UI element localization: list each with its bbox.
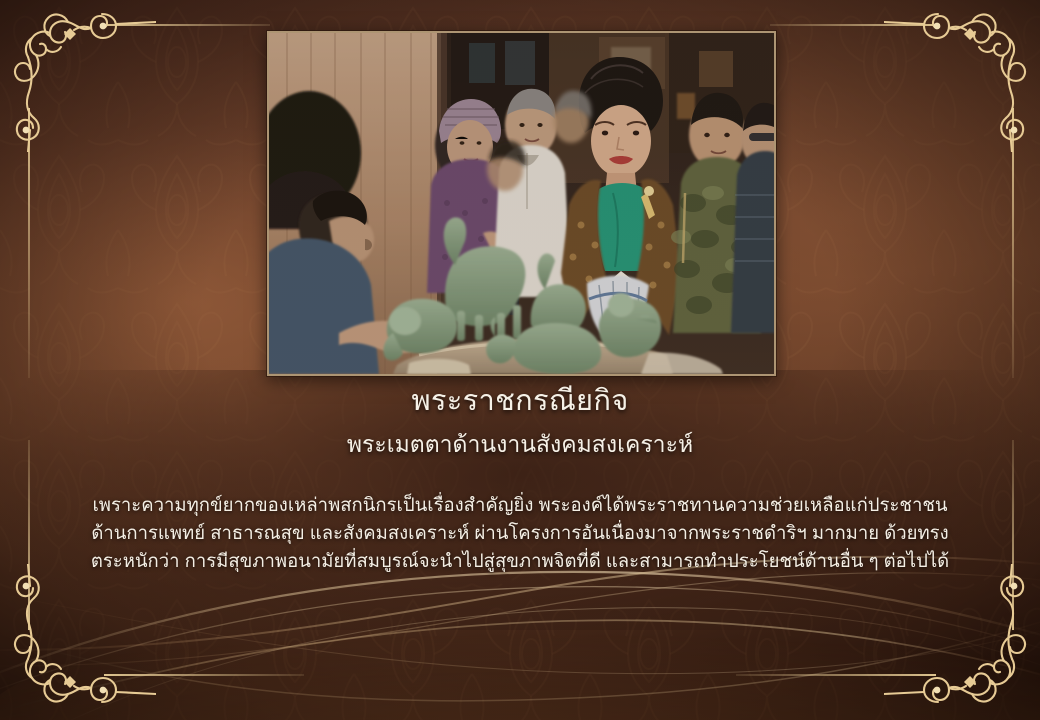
frame-line-top-left	[100, 24, 270, 26]
slide-photo	[267, 31, 776, 376]
presentation-slide: พระราชกรณียกิจ พระเมตตาด้านงานสังคมสงเคร…	[0, 0, 1040, 720]
corner-ornament-bottom-left	[6, 564, 156, 714]
body-line: ด้านการแพทย์ สาธารณสุข และสังคมสงเคราะห์…	[55, 519, 985, 547]
page-subtitle: พระเมตตาด้านงานสังคมสงเคราะห์	[0, 427, 1040, 463]
corner-ornament-top-right	[884, 2, 1034, 152]
frame-line-bottom-right	[736, 674, 936, 676]
body-text: เพราะความทุกข์ยากของเหล่าพสกนิกรเป็นเรื่…	[55, 491, 985, 574]
frame-line-top-right	[770, 24, 940, 26]
corner-ornament-top-left	[6, 2, 156, 152]
photo-content	[269, 33, 774, 374]
body-line: เพราะความทุกข์ยากของเหล่าพสกนิกรเป็นเรื่…	[55, 491, 985, 519]
frame-line-left-upper	[28, 108, 30, 378]
slide-text-block: พระราชกรณียกิจ พระเมตตาด้านงานสังคมสงเคร…	[0, 384, 1040, 574]
frame-line-right-upper	[1012, 108, 1014, 378]
body-line: ตระหนักว่า การมีสุขภาพอนามัยที่สมบูรณ์จะ…	[55, 547, 985, 575]
frame-line-bottom-left	[104, 674, 304, 676]
page-title: พระราชกรณียกิจ	[0, 384, 1040, 418]
corner-ornament-bottom-right	[884, 564, 1034, 714]
